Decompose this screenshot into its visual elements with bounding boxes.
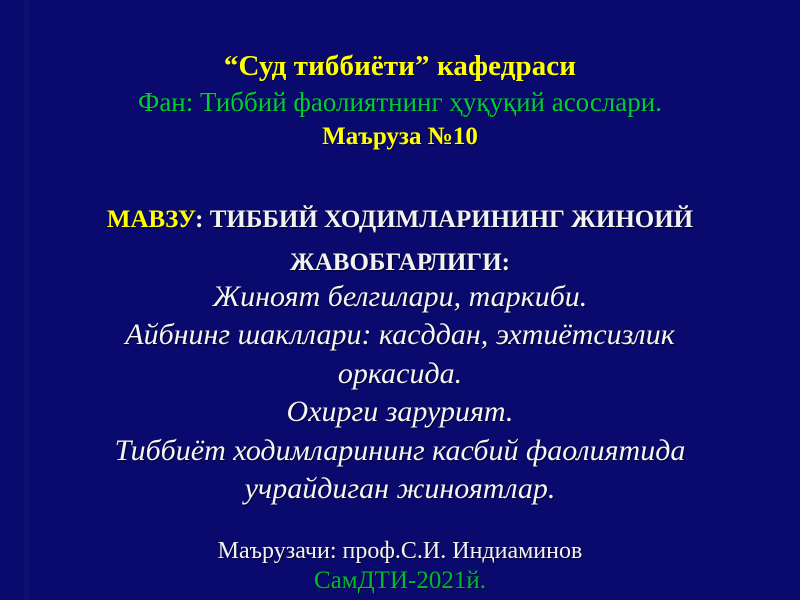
body-line: оркасида. <box>0 355 800 393</box>
department-title: “Суд тиббиёти” кафедраси <box>0 48 800 84</box>
topic-label: МАВЗУ <box>107 206 195 233</box>
lecturer-name: Маърузачи: проф.С.И. Индиаминов <box>0 537 800 566</box>
slide-footer: Маърузачи: проф.С.И. Индиаминов СамДТИ-2… <box>0 537 800 597</box>
topic-line-1-text: : ТИББИЙ ХОДИМЛАРИНИНГ ЖИНОИЙ <box>195 206 693 233</box>
body-line: Тиббиёт ходимларининг касбий фаолиятида <box>0 432 800 470</box>
slide-header: “Суд тиббиёти” кафедраси Фан: Тиббий фао… <box>0 48 800 153</box>
presentation-slide: “Суд тиббиёти” кафедраси Фан: Тиббий фао… <box>0 0 800 600</box>
topic-heading: МАВЗУ: ТИББИЙ ХОДИМЛАРИНИНГ ЖИНОИЙ ЖАВОБ… <box>0 198 800 284</box>
body-line: Охирги зарурият. <box>0 393 800 431</box>
subject-line: Фан: Тиббий фаолиятнинг ҳуқуқий асослари… <box>0 84 800 120</box>
body-line: учрайдиган жиноятлар. <box>0 470 800 508</box>
body-line: Айбнинг шакллари: касддан, эхтиётсизлик <box>0 316 800 354</box>
topic-line-1: МАВЗУ: ТИББИЙ ХОДИМЛАРИНИНГ ЖИНОИЙ <box>0 198 800 241</box>
lecture-number: Маъруза №10 <box>0 121 800 154</box>
slide-body: Жиноят белгилари, таркиби. Айбнинг шаклл… <box>0 278 800 508</box>
body-line: Жиноят белгилари, таркиби. <box>0 278 800 316</box>
organization-year: СамДТИ-2021й. <box>0 566 800 597</box>
